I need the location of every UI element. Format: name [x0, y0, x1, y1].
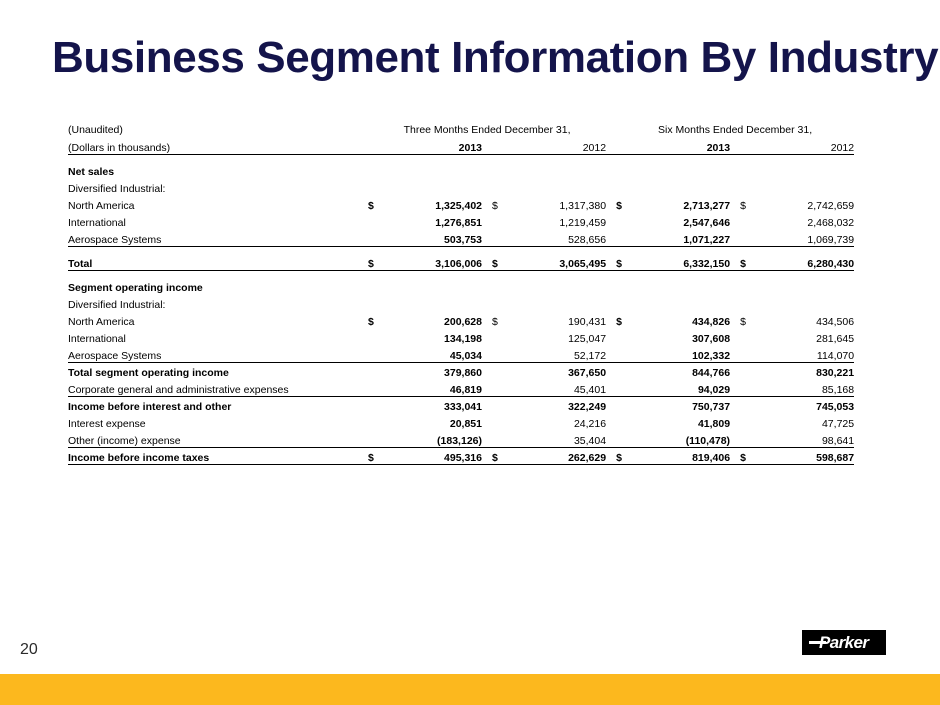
- cell-value: 434,506: [762, 311, 854, 328]
- currency-symbol: $: [740, 195, 762, 212]
- spacer-row: [68, 246, 854, 253]
- currency-symbol: $: [616, 195, 638, 212]
- year-header: 2013: [638, 136, 730, 154]
- cell-value: 307,608: [638, 328, 730, 345]
- cell-value: 45,401: [514, 379, 606, 396]
- currency-symbol: $: [492, 311, 514, 328]
- row-label: Diversified Industrial:: [68, 178, 368, 195]
- row-label: Income before interest and other: [68, 396, 368, 413]
- page-title: Business Segment Information By Industry: [52, 32, 912, 84]
- cell-value: 3,106,006: [390, 253, 482, 270]
- cell-value: 844,766: [638, 362, 730, 379]
- currency-symbol: $: [616, 447, 638, 464]
- row-label: Aerospace Systems: [68, 229, 368, 246]
- currency-symbol: $: [368, 447, 390, 464]
- business-segment-table: (Unaudited)Three Months Ended December 3…: [68, 118, 854, 465]
- currency-symbol: [740, 345, 762, 362]
- cell-value: 1,219,459: [514, 212, 606, 229]
- cell-value: 750,737: [638, 396, 730, 413]
- cell-value: 35,404: [514, 430, 606, 447]
- section-title-net-sales: Net sales: [68, 161, 854, 178]
- currency-symbol: [740, 212, 762, 229]
- currency-symbol: [616, 229, 638, 246]
- cell-value: (110,478): [638, 430, 730, 447]
- cell-value: (183,126): [390, 430, 482, 447]
- cell-value: 434,826: [638, 311, 730, 328]
- cell-value: 333,041: [390, 396, 482, 413]
- currency-symbol: $: [740, 447, 762, 464]
- cell-value: 98,641: [762, 430, 854, 447]
- row-label: Income before income taxes: [68, 447, 368, 464]
- currency-symbol: [368, 212, 390, 229]
- currency-symbol: [616, 379, 638, 396]
- currency-symbol: [492, 430, 514, 447]
- currency-symbol: [616, 345, 638, 362]
- cell-value: 6,280,430: [762, 253, 854, 270]
- spacer-row: [68, 154, 854, 161]
- cell-value: 281,645: [762, 328, 854, 345]
- row-label: International: [68, 212, 368, 229]
- cell-value: 1,069,739: [762, 229, 854, 246]
- page-number: 20: [20, 641, 38, 659]
- cell-value: 190,431: [514, 311, 606, 328]
- row-label: Total segment operating income: [68, 362, 368, 379]
- currency-symbol: [368, 328, 390, 345]
- units-label: (Dollars in thousands): [68, 136, 368, 154]
- cell-value: 1,317,380: [514, 195, 606, 212]
- table-row: Aerospace Systems45,03452,172102,332114,…: [68, 345, 854, 362]
- cell-value: 819,406: [638, 447, 730, 464]
- row-label: Other (income) expense: [68, 430, 368, 447]
- cell-value: 24,216: [514, 413, 606, 430]
- currency-symbol: $: [740, 253, 762, 270]
- section-subtitle-net-sales: Diversified Industrial:: [68, 178, 854, 195]
- currency-symbol: [492, 396, 514, 413]
- cell-value: 503,753: [390, 229, 482, 246]
- cell-value: 2,547,646: [638, 212, 730, 229]
- cell-value: 1,276,851: [390, 212, 482, 229]
- currency-symbol: [740, 413, 762, 430]
- row-label: Diversified Industrial:: [68, 294, 368, 311]
- currency-symbol: [368, 345, 390, 362]
- currency-symbol: $: [368, 253, 390, 270]
- currency-symbol: [368, 430, 390, 447]
- currency-symbol: [492, 345, 514, 362]
- currency-symbol: [616, 413, 638, 430]
- currency-symbol: [368, 379, 390, 396]
- currency-symbol: [616, 328, 638, 345]
- row-label: International: [68, 328, 368, 345]
- cell-value: 1,071,227: [638, 229, 730, 246]
- summary-row-interest-expense: Interest expense20,85124,21641,80947,725: [68, 413, 854, 430]
- cell-value: 745,053: [762, 396, 854, 413]
- row-label: Corporate general and administrative exp…: [68, 379, 368, 396]
- currency-symbol: [492, 212, 514, 229]
- table-row: North America$200,628$190,431$434,826$43…: [68, 311, 854, 328]
- currency-symbol: [368, 413, 390, 430]
- currency-symbol: $: [368, 311, 390, 328]
- summary-row-income-before-interest-and-other: Income before interest and other333,0413…: [68, 396, 854, 413]
- row-label: North America: [68, 311, 368, 328]
- cell-value: 495,316: [390, 447, 482, 464]
- currency-symbol: $: [616, 311, 638, 328]
- group-header-six-months: Six Months Ended December 31,: [616, 118, 854, 136]
- summary-row-other-income-expense: Other (income) expense(183,126)35,404(11…: [68, 430, 854, 447]
- currency-symbol: [368, 229, 390, 246]
- currency-symbol: [492, 362, 514, 379]
- cell-value: 200,628: [390, 311, 482, 328]
- year-header: 2012: [762, 136, 854, 154]
- cell-value: 45,034: [390, 345, 482, 362]
- currency-symbol: $: [492, 195, 514, 212]
- cell-value: 1,325,402: [390, 195, 482, 212]
- section-subtitle-segment-operating-income: Diversified Industrial:: [68, 294, 854, 311]
- table-header-row-2: (Dollars in thousands)2013201220132012: [68, 136, 854, 154]
- cell-value: 134,198: [390, 328, 482, 345]
- section-title-segment-operating-income: Segment operating income: [68, 277, 854, 294]
- total-row: Total segment operating income379,860367…: [68, 362, 854, 379]
- currency-symbol: [492, 229, 514, 246]
- currency-symbol: $: [740, 311, 762, 328]
- row-label: Net sales: [68, 161, 368, 178]
- year-header: 2012: [514, 136, 606, 154]
- cell-value: 41,809: [638, 413, 730, 430]
- cell-value: 830,221: [762, 362, 854, 379]
- table-header-row-1: (Unaudited)Three Months Ended December 3…: [68, 118, 854, 136]
- currency-symbol: [740, 379, 762, 396]
- row-label: Aerospace Systems: [68, 345, 368, 362]
- currency-symbol: [740, 229, 762, 246]
- currency-symbol: [616, 396, 638, 413]
- cell-value: 94,029: [638, 379, 730, 396]
- currency-symbol: [616, 362, 638, 379]
- cell-value: 114,070: [762, 345, 854, 362]
- currency-symbol: $: [616, 253, 638, 270]
- currency-symbol: [740, 362, 762, 379]
- cell-value: 528,656: [514, 229, 606, 246]
- summary-row-income-before-income-taxes: Income before income taxes$495,316$262,6…: [68, 447, 854, 464]
- currency-symbol: $: [492, 447, 514, 464]
- financial-table-container: (Unaudited)Three Months Ended December 3…: [68, 118, 842, 465]
- currency-symbol: [616, 212, 638, 229]
- total-row: Total$3,106,006$3,065,495$6,332,150$6,28…: [68, 253, 854, 270]
- currency-symbol: [492, 379, 514, 396]
- table-row: International1,276,8511,219,4592,547,646…: [68, 212, 854, 229]
- cell-value: 2,742,659: [762, 195, 854, 212]
- cell-value: 47,725: [762, 413, 854, 430]
- cell-value: 46,819: [390, 379, 482, 396]
- currency-symbol: [492, 328, 514, 345]
- cell-value: 262,629: [514, 447, 606, 464]
- table-row: International134,198125,047307,608281,64…: [68, 328, 854, 345]
- cell-value: 379,860: [390, 362, 482, 379]
- year-header: 2013: [390, 136, 482, 154]
- cell-value: 85,168: [762, 379, 854, 396]
- cell-value: 125,047: [514, 328, 606, 345]
- table-row: North America$1,325,402$1,317,380$2,713,…: [68, 195, 854, 212]
- cell-value: 598,687: [762, 447, 854, 464]
- parker-logo: Parker: [802, 630, 886, 655]
- currency-symbol: [492, 413, 514, 430]
- row-label: Segment operating income: [68, 277, 368, 294]
- cell-value: 367,650: [514, 362, 606, 379]
- currency-symbol: [616, 430, 638, 447]
- currency-symbol: [368, 396, 390, 413]
- currency-symbol: [740, 430, 762, 447]
- cell-value: 52,172: [514, 345, 606, 362]
- cell-value: 102,332: [638, 345, 730, 362]
- summary-row-corporate-general-administrative: Corporate general and administrative exp…: [68, 379, 854, 396]
- currency-symbol: $: [368, 195, 390, 212]
- row-label: Interest expense: [68, 413, 368, 430]
- spacer-row: [68, 270, 854, 277]
- bottom-accent-bar: [0, 674, 940, 705]
- cell-value: 6,332,150: [638, 253, 730, 270]
- cell-value: 2,468,032: [762, 212, 854, 229]
- table-row: Aerospace Systems503,753528,6561,071,227…: [68, 229, 854, 246]
- currency-symbol: [740, 396, 762, 413]
- currency-symbol: [740, 328, 762, 345]
- row-label: North America: [68, 195, 368, 212]
- group-header-three-months: Three Months Ended December 31,: [368, 118, 606, 136]
- unaudited-label: (Unaudited): [68, 118, 368, 136]
- cell-value: 322,249: [514, 396, 606, 413]
- cell-value: 3,065,495: [514, 253, 606, 270]
- cell-value: 20,851: [390, 413, 482, 430]
- cell-value: 2,713,277: [638, 195, 730, 212]
- currency-symbol: [368, 362, 390, 379]
- currency-symbol: $: [492, 253, 514, 270]
- parker-logo-text: Parker: [819, 632, 868, 653]
- row-label: Total: [68, 253, 368, 270]
